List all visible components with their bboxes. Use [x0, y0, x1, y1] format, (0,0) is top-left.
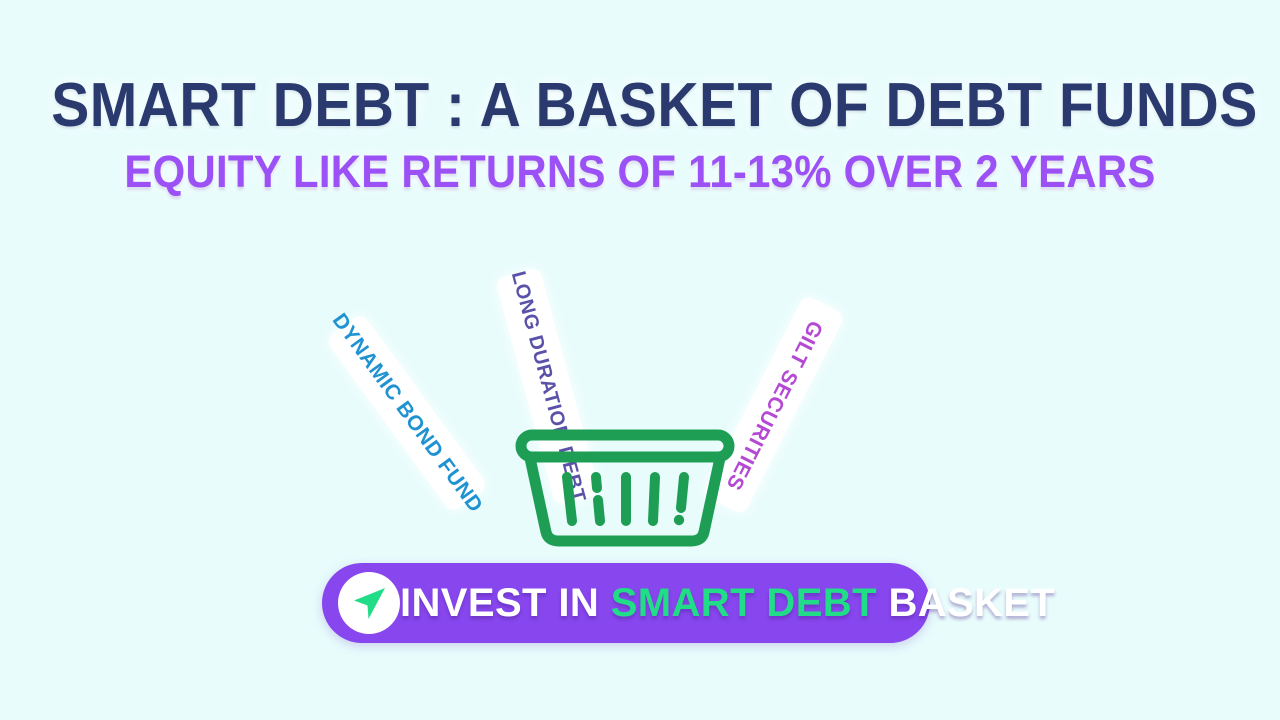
send-arrow-icon — [347, 581, 391, 625]
fund-label-card-dynamic-bond-fund[interactable]: DYNAMIC BOND FUND — [325, 313, 489, 514]
cta-label-part-2: SMART DEBT — [611, 581, 877, 625]
shopping-basket-icon — [510, 428, 740, 548]
promo-banner: SMART DEBT : A BASKET OF DEBT FUNDS EQUI… — [0, 0, 1280, 720]
cta-label-part-3: BASKET — [888, 581, 1055, 625]
basket-illustration — [510, 428, 740, 548]
cta-label: INVEST IN SMART DEBT BASKET — [400, 581, 1073, 626]
page-subtitle: EQUITY LIKE RETURNS OF 11-13% OVER 2 YEA… — [45, 146, 1235, 198]
fund-label-text-dynamic-bond-fund: DYNAMIC BOND FUND — [327, 309, 488, 517]
heading-block: SMART DEBT : A BASKET OF DEBT FUNDS EQUI… — [0, 72, 1280, 198]
send-arrow-icon-circle — [338, 572, 400, 634]
cta-label-part-1: INVEST IN — [400, 581, 599, 625]
invest-in-smart-debt-basket-button[interactable]: INVEST IN SMART DEBT BASKET — [322, 563, 930, 643]
page-title: SMART DEBT : A BASKET OF DEBT FUNDS — [51, 72, 1229, 140]
